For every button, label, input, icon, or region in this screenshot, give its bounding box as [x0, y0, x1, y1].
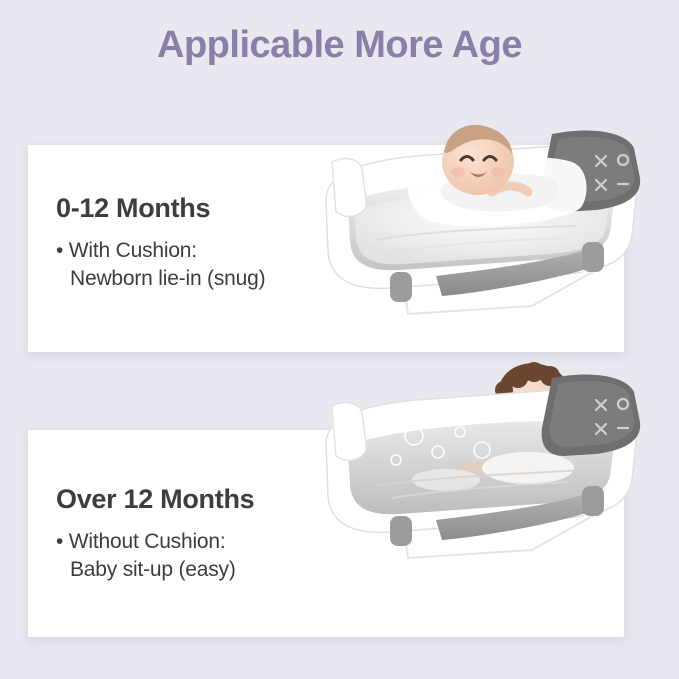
- card-line-1: With Cushion:: [69, 239, 197, 262]
- product-image-without-cushion: [296, 340, 656, 570]
- product-image-with-cushion: [296, 100, 656, 330]
- card-body: • With Cushion: Newborn lie-in (snug): [56, 237, 265, 292]
- card-heading: Over 12 Months: [56, 484, 254, 515]
- card-line-2: Newborn lie-in (snug): [56, 265, 265, 293]
- bullet-marker: •: [56, 239, 63, 262]
- page-title: Applicable More Age: [0, 24, 679, 67]
- card-heading: 0-12 Months: [56, 193, 210, 224]
- card-body: • Without Cushion: Baby sit-up (easy): [56, 528, 236, 583]
- card-line-1: Without Cushion:: [69, 530, 226, 553]
- bullet-marker: •: [56, 530, 63, 553]
- card-line-2: Baby sit-up (easy): [56, 556, 236, 584]
